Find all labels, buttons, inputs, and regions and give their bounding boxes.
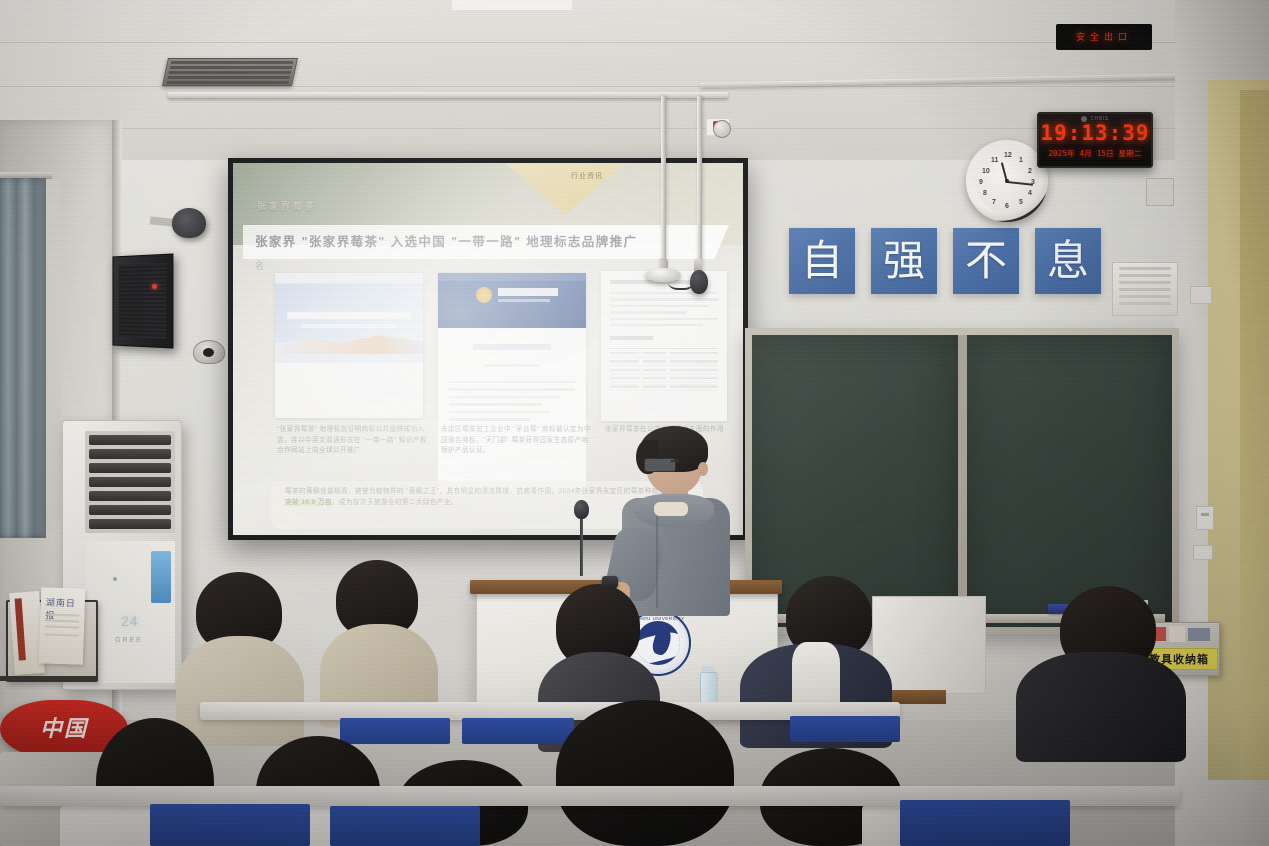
motto-char-2: 强 <box>883 240 925 282</box>
ac-energy-label <box>151 551 171 603</box>
door-panel-edge <box>1240 90 1269 780</box>
clock-num-12: 12 <box>1004 152 1012 159</box>
motto-panel-4: 息 <box>1035 228 1101 294</box>
motto-panel-2: 强 <box>871 228 937 294</box>
presenter-person <box>616 432 732 612</box>
clock-num-9: 9 <box>979 179 983 186</box>
exit-sign-label: 安全出口 <box>1056 24 1152 50</box>
seat-cushion <box>340 718 450 744</box>
dome-camera-icon <box>193 340 225 364</box>
ac-indicator-led <box>113 577 117 581</box>
clock-num-2: 2 <box>1028 168 1032 175</box>
podium-microphone-icon <box>574 500 589 519</box>
ac-temperature-display: 24 <box>121 613 139 629</box>
clock-num-5: 5 <box>1019 199 1023 206</box>
ac-front-panel: 24 GREE <box>85 541 175 683</box>
rack-frame-bar <box>0 676 96 681</box>
podium-mic-stem <box>580 510 583 576</box>
window-curtain <box>0 178 46 538</box>
speaker-power-led <box>152 284 157 289</box>
presenter-inner-collar <box>654 502 688 516</box>
motto-panel-1: 自 <box>789 228 855 294</box>
clock-center-pin <box>1005 179 1009 183</box>
seat-cushion <box>790 716 900 742</box>
security-camera-icon <box>172 208 206 238</box>
hanging-microphone-icon <box>690 270 708 294</box>
digital-clock-time: 19:13:39 <box>1039 123 1151 144</box>
blackboard-panel-right <box>967 335 1173 627</box>
wall-switch-plate[interactable] <box>1190 286 1212 304</box>
presenter-zipper <box>656 516 658 608</box>
wall-vent <box>1112 262 1178 316</box>
clock-num-4: 4 <box>1028 190 1032 197</box>
mic-suspension-rod-2 <box>697 96 702 284</box>
ac-air-outlet <box>85 431 175 533</box>
motto-char-4: 息 <box>1047 240 1089 282</box>
clock-num-11: 11 <box>991 157 998 164</box>
clock-num-7: 7 <box>992 199 996 206</box>
digital-led-clock: CHRIS 19:13:39 2025年 4月 15日 星期二 <box>1037 112 1153 168</box>
presenter-ear <box>698 462 708 476</box>
clock-minute-hand <box>1007 181 1033 185</box>
wall-outlet[interactable] <box>1196 506 1214 530</box>
wall-speaker <box>113 253 174 348</box>
seat-cushion <box>462 718 574 744</box>
clock-num-8: 8 <box>983 190 987 197</box>
clock-num-10: 10 <box>982 168 990 175</box>
audience-person-head <box>556 700 734 846</box>
motto-panel-3: 不 <box>953 228 1019 294</box>
audience-person-body <box>176 636 304 746</box>
audience-person-body <box>1016 652 1186 762</box>
wall-outlet-2[interactable] <box>1193 545 1213 560</box>
ceiling-mic-base <box>645 268 681 282</box>
air-vent-icon <box>162 58 298 86</box>
ceiling-light-strip <box>452 0 572 10</box>
projector-rail <box>168 92 728 98</box>
analog-wall-clock: 12 1 2 3 4 5 6 7 8 9 10 11 <box>966 140 1048 222</box>
mic-suspension-rod-1 <box>661 96 666 272</box>
motto-char-1: 自 <box>801 240 843 282</box>
clock-num-1: 1 <box>1019 157 1023 164</box>
seat-cushion <box>900 800 1070 846</box>
fire-sprinkler-icon <box>713 120 731 138</box>
exit-sign: 安全出口 <box>1056 24 1152 50</box>
motto-char-3: 不 <box>965 240 1007 282</box>
wall-junction-box <box>1146 178 1174 206</box>
clock-face: 12 1 2 3 4 5 6 7 8 9 10 11 <box>975 149 1039 213</box>
presenter-glasses-temple <box>671 460 679 462</box>
seat-cushion <box>330 806 480 846</box>
classroom-photo: 行业资讯 张家界莓茶 张家界 "张家界莓茶" 入选中国 "一带一路" 地理标志品… <box>0 0 1269 846</box>
newspaper-2[interactable]: 湖南日报 <box>39 587 86 664</box>
ac-brand-label: GREE <box>115 637 143 644</box>
clock-num-6: 6 <box>1005 203 1009 210</box>
seat-cushion <box>150 804 310 846</box>
digital-clock-date: 2025年 4月 15日 星期二 <box>1039 148 1151 159</box>
